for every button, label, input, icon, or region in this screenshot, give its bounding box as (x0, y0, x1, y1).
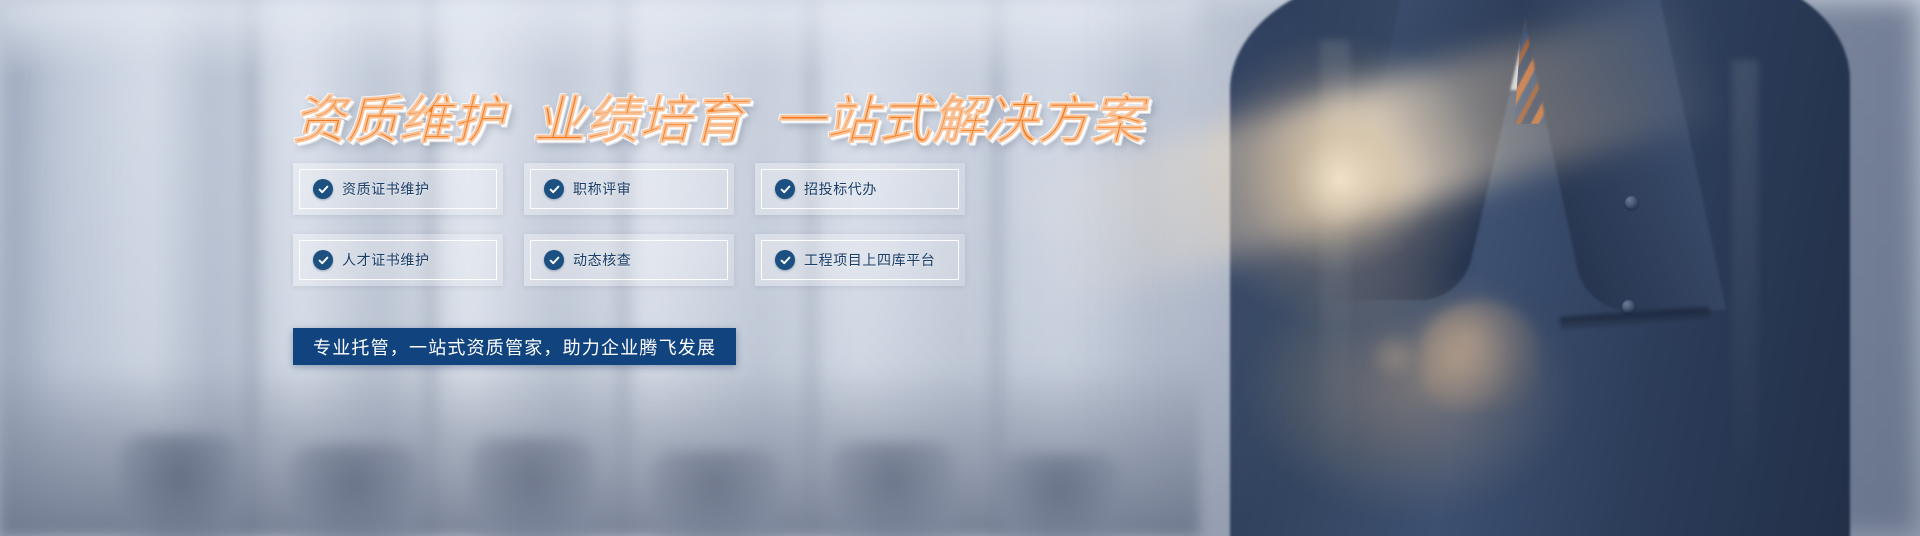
feature-card[interactable]: 工程项目上四库平台 (755, 234, 965, 286)
feature-card-inner: 工程项目上四库平台 (761, 240, 959, 280)
feature-card-inner: 人才证书维护 (299, 240, 497, 280)
tagline-bar: 专业托管，一站式资质管家，助力企业腾飞发展 (293, 328, 736, 365)
headline-part-1: 资质维护 (293, 92, 505, 150)
check-circle-icon (544, 179, 564, 199)
hand (1420, 300, 1540, 410)
suit-button (1622, 300, 1635, 313)
feature-card-inner: 资质证书维护 (299, 169, 497, 209)
feature-card-label: 人才证书维护 (342, 250, 430, 270)
check-circle-icon (775, 250, 795, 270)
fabric-crease (1732, 60, 1758, 490)
businessman-photo (1120, 0, 1920, 536)
feature-card-label: 工程项目上四库平台 (804, 250, 935, 270)
check-circle-icon (544, 250, 564, 270)
feature-card-inner: 职称评审 (530, 169, 728, 209)
feature-card[interactable]: 人才证书维护 (293, 234, 503, 286)
tagline-text: 专业托管，一站式资质管家，助力企业腾飞发展 (313, 334, 716, 360)
feature-card-label: 招投标代办 (804, 179, 877, 199)
banner-content: 资质维护业绩培育一站式解决方案 资质证书维护 职称评审 (0, 0, 1100, 536)
check-circle-icon (775, 179, 795, 199)
feature-card[interactable]: 动态核查 (524, 234, 734, 286)
fabric-crease (1320, 40, 1350, 500)
feature-card-label: 动态核查 (573, 250, 631, 270)
suit-button (1625, 196, 1638, 209)
feature-card-grid: 资质证书维护 职称评审 招投标代办 (293, 163, 965, 286)
headline-part-3: 一站式解决方案 (773, 92, 1144, 150)
feature-card-label: 职称评审 (573, 179, 631, 199)
feature-card[interactable]: 资质证书维护 (293, 163, 503, 215)
check-circle-icon (313, 179, 333, 199)
feature-card-inner: 招投标代办 (761, 169, 959, 209)
feature-card-inner: 动态核查 (530, 240, 728, 280)
page-title: 资质维护业绩培育一站式解决方案 (293, 78, 1144, 153)
headline-part-2: 业绩培育 (533, 92, 745, 150)
feature-card[interactable]: 职称评审 (524, 163, 734, 215)
feature-card[interactable]: 招投标代办 (755, 163, 965, 215)
check-circle-icon (313, 250, 333, 270)
feature-card-label: 资质证书维护 (342, 179, 430, 199)
promo-banner: 资质维护业绩培育一站式解决方案 资质证书维护 职称评审 (0, 0, 1920, 536)
